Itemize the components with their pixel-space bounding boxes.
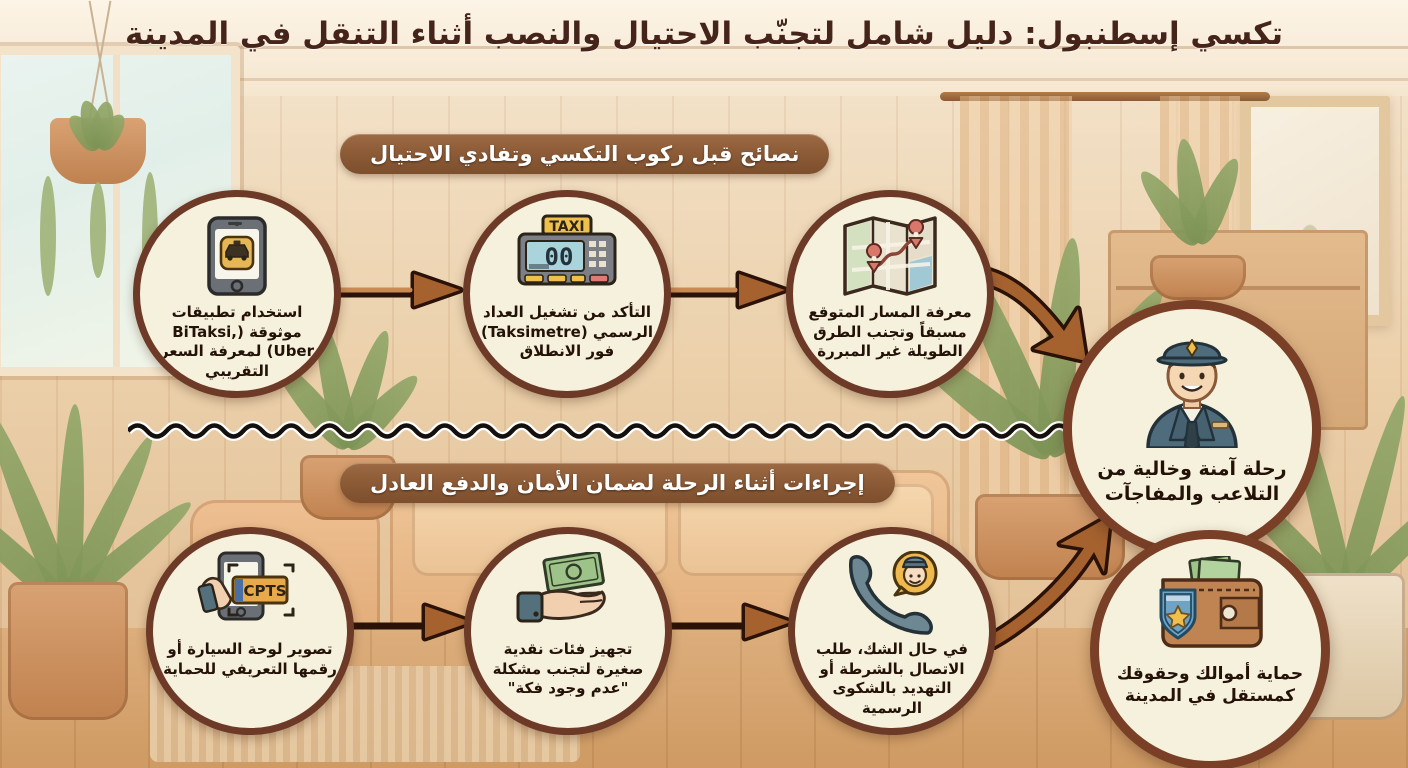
step-node-known-route[interactable]: معرفة المسار المتوقع مسبقاً وتجنب الطرق … [786, 190, 994, 398]
outcome-node-safe-ride[interactable]: رحلة آمنة وخالية من التلاعب والمفاجآت [1063, 300, 1321, 558]
wallet-badge-icon [1150, 555, 1270, 655]
arrow-step2-to-step3 [655, 250, 805, 330]
step-node-taximeter[interactable]: TAXI 00 التأكد من تشغيل العداد الرسمي (T… [463, 190, 671, 398]
phone-photo-license-plate-icon: CPTS [194, 552, 306, 634]
step-node-small-cash[interactable]: تجهيز فئات نقدية صغيرة لتجنب مشكلة "عدم … [464, 527, 672, 735]
step-node-label: تصوير لوحة السيارة أو رقمها التعريفي للح… [161, 640, 339, 679]
step-node-label: في حال الشك، طلب الاتصال بالشرطة أو الته… [803, 640, 981, 718]
step-node-label: تجهيز فئات نقدية صغيرة لتجنب مشكلة "عدم … [479, 640, 657, 699]
infographic-canvas: تكسي إسطنبول: دليل شامل لتجنّب الاحتيال … [0, 0, 1408, 768]
page-title: تكسي إسطنبول: دليل شامل لتجنّب الاحتيال … [0, 14, 1408, 55]
police-officer-icon [1128, 331, 1256, 449]
arrow-step1-to-step2 [330, 250, 480, 330]
folded-map-route-icon [838, 215, 942, 297]
section-banner-during-ride: إجراءات أثناء الرحلة لضمان الأمان والدفع… [340, 463, 895, 503]
svg-text:CPTS: CPTS [243, 582, 286, 600]
step-node-label: التأكد من تشغيل العداد الرسمي (Taksimetr… [478, 303, 656, 362]
outcome-node-label: رحلة آمنة وخالية من التلاعب والمفاجآت [1087, 457, 1297, 506]
step-node-trusted-apps[interactable]: استخدام تطبيقات موثوقة (BiTaksi, Uber) ل… [133, 190, 341, 398]
smartphone-taxi-app-icon [196, 215, 278, 297]
phone-call-police-icon [837, 552, 947, 634]
taximeter-icon: TAXI 00 [514, 215, 620, 297]
outcome-node-money-protection[interactable]: حماية أموالك وحقوقك كمستقل في المدينة [1090, 530, 1330, 768]
step-node-label: معرفة المسار المتوقع مسبقاً وتجنب الطرق … [801, 303, 979, 362]
outcome-node-label: حماية أموالك وحقوقك كمستقل في المدينة [1110, 663, 1310, 707]
step-node-label: استخدام تطبيقات موثوقة (BiTaksi, Uber) ل… [148, 303, 326, 381]
step-node-photo-plate[interactable]: CPTS تصوير لوحة السيارة أو رقمها التعريف… [146, 527, 354, 735]
section-banner-pre-ride: نصائح قبل ركوب التكسي وتفادي الاحتيال [340, 134, 829, 174]
step-node-call-police[interactable]: في حال الشك، طلب الاتصال بالشرطة أو الته… [788, 527, 996, 735]
hand-cash-banknote-icon [513, 552, 623, 634]
